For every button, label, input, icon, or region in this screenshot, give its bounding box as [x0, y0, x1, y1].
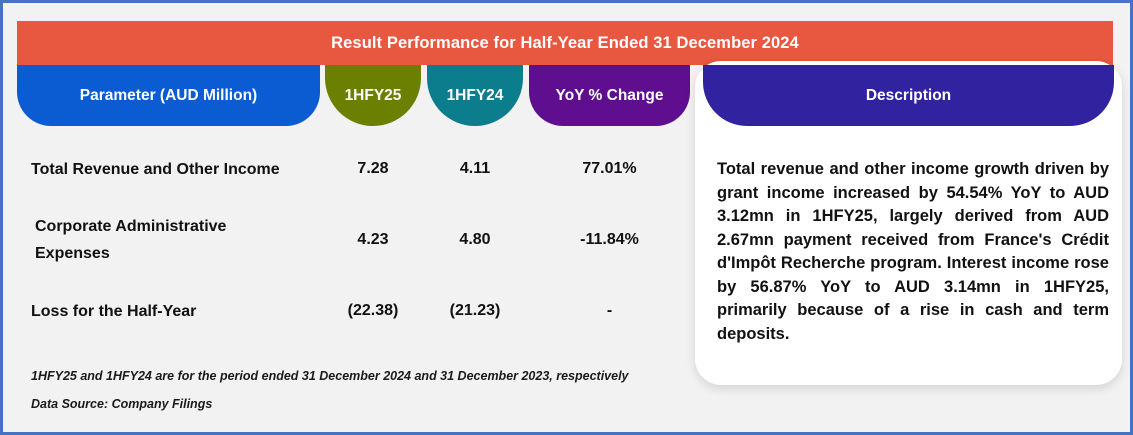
row-value-loss-for-half-year-yoy: -	[529, 302, 690, 320]
row-label-corporate-admin-expenses: Corporate Administrative Expenses	[17, 213, 320, 267]
column-header-1hfy25-label: 1HFY25	[345, 87, 402, 105]
row-value-corporate-admin-expenses-1hfy24: 4.80	[427, 231, 523, 249]
column-header-1hfy25: 1HFY25	[325, 65, 421, 126]
row-value-total-revenue-yoy: 77.01%	[529, 160, 690, 178]
row-label-corporate-admin-expenses-line2: Expenses	[35, 240, 320, 267]
metrics-table: Total Revenue and Other Income 7.28 4.11…	[17, 143, 693, 337]
table-row: Total Revenue and Other Income 7.28 4.11…	[17, 143, 693, 195]
row-label-corporate-admin-expenses-line1: Corporate Administrative	[35, 213, 320, 240]
footnote-data-source: Data Source: Company Filings	[31, 397, 629, 411]
page-title: Result Performance for Half-Year Ended 3…	[331, 34, 799, 53]
column-header-description: Description	[703, 65, 1114, 126]
footnotes: 1HFY25 and 1HFY24 are for the period end…	[31, 369, 629, 425]
row-value-total-revenue-1hfy25: 7.28	[325, 160, 421, 178]
column-header-description-label: Description	[866, 87, 951, 105]
column-header-1hfy24: 1HFY24	[427, 65, 523, 126]
result-performance-table-graphic: Result Performance for Half-Year Ended 3…	[0, 0, 1133, 435]
table-row: Corporate Administrative Expenses 4.23 4…	[17, 195, 693, 285]
column-header-yoy-change-label: YoY % Change	[556, 87, 664, 105]
row-label-loss-for-half-year: Loss for the Half-Year	[17, 298, 320, 325]
table-row: Loss for the Half-Year (22.38) (21.23) -	[17, 285, 693, 337]
column-header-yoy-change: YoY % Change	[529, 65, 690, 126]
description-body: Total revenue and other income growth dr…	[717, 158, 1109, 346]
row-value-corporate-admin-expenses-1hfy25: 4.23	[325, 231, 421, 249]
column-header-parameter: Parameter (AUD Million)	[17, 65, 320, 126]
column-header-parameter-label: Parameter (AUD Million)	[80, 87, 257, 105]
column-header-1hfy24-label: 1HFY24	[447, 87, 504, 105]
table-title-banner: Result Performance for Half-Year Ended 3…	[17, 21, 1113, 65]
footnote-period-definition: 1HFY25 and 1HFY24 are for the period end…	[31, 369, 629, 383]
row-value-loss-for-half-year-1hfy24: (21.23)	[427, 302, 523, 320]
row-value-loss-for-half-year-1hfy25: (22.38)	[325, 302, 421, 320]
row-value-total-revenue-1hfy24: 4.11	[427, 160, 523, 178]
row-label-total-revenue: Total Revenue and Other Income	[17, 156, 320, 183]
row-value-corporate-admin-expenses-yoy: -11.84%	[529, 231, 690, 249]
